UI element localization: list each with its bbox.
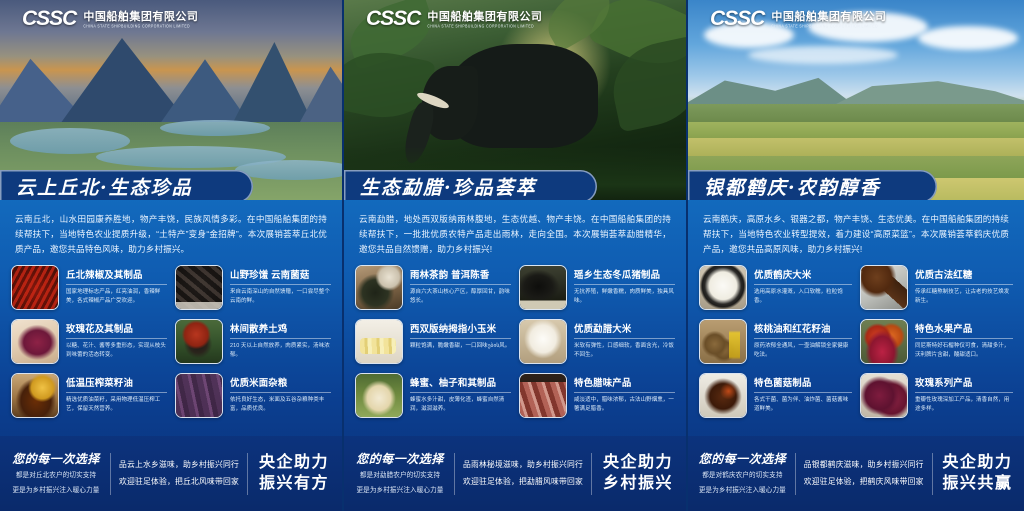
product-card[interactable]: 玫瑰花及其制品 以糖、花汁、酱等多重形态，实现从枝头到味蕾的活态转变。 bbox=[11, 319, 167, 364]
footer-sub-2: 更是为乡村振兴注入暖心力量 bbox=[698, 486, 787, 497]
footer-divider bbox=[795, 453, 796, 495]
footer-divider bbox=[247, 453, 248, 495]
product-thumbnail-purple-grain bbox=[175, 373, 223, 418]
panel-footer: 您的每一次选择 都是对丘北农户的切实支持 更是为乡村振兴注入暖心力量 品云上水乡… bbox=[0, 436, 342, 511]
footer-divider bbox=[110, 453, 111, 495]
product-desc: 传承红糖熬制技艺，让古老的技艺焕发新生。 bbox=[915, 288, 1013, 306]
product-thumbnail-fruit-platter bbox=[860, 319, 908, 364]
footer-slogan-block: 您的每一次选择 都是对丘北农户的切实支持 更是为乡村振兴注入暖心力量 bbox=[10, 450, 102, 497]
product-name: 林间散养土鸡 bbox=[230, 321, 331, 339]
footer-message-block: 品云上水乡滋味，助乡村振兴同行 欢迎驻足体验，把丘北风味带回家 bbox=[119, 457, 239, 490]
product-card[interactable]: 优质米面杂粮 依托良好生态，米面及五谷杂粮种类丰富，品质优良。 bbox=[175, 373, 331, 418]
cssc-logo-cn: 中国船舶集团有限公司 bbox=[771, 12, 886, 23]
footer-headline-2: 振兴共赢 bbox=[941, 474, 1014, 495]
product-name: 雨林茶韵 普洱陈香 bbox=[410, 267, 511, 285]
product-name: 瑶乡生态冬瓜猪制品 bbox=[574, 267, 675, 285]
product-name: 优质勐腊大米 bbox=[574, 321, 675, 339]
footer-headline-2: 乡村振兴 bbox=[600, 474, 676, 495]
hero-mengla: CSSC 中国船舶集团有限公司 CHINA STATE SHIPBUILDING… bbox=[344, 0, 686, 200]
product-name: 优质米面杂粮 bbox=[230, 375, 331, 393]
footer-divider bbox=[591, 453, 592, 495]
product-thumbnail-free-range-chicken bbox=[175, 319, 223, 364]
footer-headline-1: 央企助力 bbox=[941, 453, 1014, 474]
footer-script: 您的每一次选择 bbox=[10, 450, 102, 467]
product-thumbnail-baby-corn bbox=[355, 319, 403, 364]
panel-mengla: CSSC 中国船舶集团有限公司 CHINA STATE SHIPBUILDING… bbox=[344, 0, 686, 511]
footer-line-1: 品云上水乡滋味，助乡村振兴同行 bbox=[119, 457, 239, 473]
panel-title-bar: 云上丘北·生态珍品 bbox=[0, 170, 253, 200]
product-thumbnail-puer-tea bbox=[355, 265, 403, 310]
cssc-logo: CSSC 中国船舶集团有限公司 CHINA STATE SHIPBUILDING… bbox=[366, 8, 542, 29]
panel-footer: 您的每一次选择 都是对勐腊农户的切实支持 更是为乡村振兴注入暖心力量 品雨林秘境… bbox=[344, 436, 686, 511]
footer-line-2: 欢迎驻足体验，把鹤庆风味带回家 bbox=[804, 474, 924, 490]
elephant bbox=[448, 44, 598, 148]
footer-sub-2: 更是为乡村振兴注入暖心力量 bbox=[354, 486, 446, 497]
footer-slogan-block: 您的每一次选择 都是对勐腊农户的切实支持 更是为乡村振兴注入暖心力量 bbox=[354, 450, 446, 497]
product-card[interactable]: 特色水果产品 同尼斯特好石榴种仅可食，清甜多汁，沃利脾片含甜，酸甜适口。 bbox=[860, 319, 1013, 364]
panel-intro: 云南丘北，山水田园康养胜地，物产丰饶，民族风情多彩。在中国船舶集团的持续帮扶下，… bbox=[15, 212, 327, 256]
product-card[interactable]: 特色菌菇制品 各式干菌、菌为伴、油炸菌、菌菇酱味道鲜美。 bbox=[699, 373, 852, 418]
footer-script: 您的每一次选择 bbox=[354, 450, 446, 467]
product-name: 玫瑰系列产品 bbox=[915, 375, 1013, 393]
field-strip bbox=[688, 138, 1024, 156]
cssc-logo-cn: 中国船舶集团有限公司 bbox=[427, 12, 542, 23]
product-grid: 丘北辣椒及其制品 国家地理标志产品，红亮油润，香辣鲜美，各式辣椒产品广受欢迎。 … bbox=[11, 265, 331, 418]
product-card[interactable]: 西双版纳拇指小玉米 颗粒饱满，脆嫩香甜，一口回味ების风。 bbox=[355, 319, 511, 364]
product-desc: 210 天以上自然放养，肉质紧实，汤味浓郁。 bbox=[230, 342, 331, 360]
product-desc: 来自云南深山的自然馈赠，一口尝尽整个云南的鲜。 bbox=[230, 288, 331, 306]
product-desc: 颗粒饱满，脆嫩香甜，一口回味ების风。 bbox=[410, 342, 511, 351]
product-card[interactable]: 优质古法红糖 传承红糖熬制技艺，让古老的技艺焕发新生。 bbox=[860, 265, 1013, 310]
product-card[interactable]: 林间散养土鸡 210 天以上自然放养，肉质紧实，汤味浓郁。 bbox=[175, 319, 331, 364]
product-card[interactable]: 丘北辣椒及其制品 国家地理标志产品，红亮油润，香辣鲜美，各式辣椒产品广受欢迎。 bbox=[11, 265, 167, 310]
product-name: 核桃油和红花籽油 bbox=[754, 321, 852, 339]
footer-message-block: 品银都鹤庆滋味，助乡村振兴同行 欢迎驻足体验，把鹤庆风味带回家 bbox=[804, 457, 924, 490]
footer-sub-1: 都是对勐腊农户的切实支持 bbox=[354, 471, 446, 482]
footer-sub-2: 更是为乡村振兴注入暖心力量 bbox=[10, 486, 102, 497]
footer-message-block: 品雨林秘境滋味，助乡村振兴同行 欢迎驻足体验，把勐腊风味带回家 bbox=[463, 457, 583, 490]
panel-heqing: CSSC 中国船舶集团有限公司 CHINA STATE SHIPBUILDING… bbox=[688, 0, 1024, 511]
product-name: 蜂蜜、柚子和其制品 bbox=[410, 375, 511, 393]
product-desc: 源自六大茶山核心产区，醇厚回甘，韵味悠长。 bbox=[410, 288, 511, 306]
cloud bbox=[918, 26, 1018, 50]
product-card[interactable]: 雨林茶韵 普洱陈香 源自六大茶山核心产区，醇厚回甘，韵味悠长。 bbox=[355, 265, 511, 310]
footer-sub-1: 都是对鹤庆农户的切实支持 bbox=[698, 471, 787, 482]
footer-line-2: 欢迎驻足体验，把丘北风味带回家 bbox=[119, 474, 239, 490]
product-card[interactable]: 优质勐腊大米 米软有弹性，口感细软，香面含光，冷饭不回生。 bbox=[519, 319, 675, 364]
product-name: 山野珍馐 云南菌菇 bbox=[230, 267, 331, 285]
footer-divider bbox=[932, 453, 933, 495]
promo-board: CSSC 中国船舶集团有限公司 CHINA STATE SHIPBUILDING… bbox=[0, 0, 1024, 511]
product-name: 优质古法红糖 bbox=[915, 267, 1013, 285]
product-desc: 精选优质油菜籽，采用物理低温压榨工艺，保留天然营养。 bbox=[66, 396, 167, 414]
product-desc: 无抗养殖，鲜嫩香糯，肉质鲜美，独具风味。 bbox=[574, 288, 675, 306]
product-card[interactable]: 瑶乡生态冬瓜猪制品 无抗养殖，鲜嫩香糯，肉质鲜美，独具风味。 bbox=[519, 265, 675, 310]
hero-heqing: CSSC 中国船舶集团有限公司 CHINA STATE SHIPBUILDING… bbox=[688, 0, 1024, 200]
product-name: 特色水果产品 bbox=[915, 321, 1013, 339]
product-thumbnail-black-pig bbox=[519, 265, 567, 310]
footer-headline-1: 央企助力 bbox=[256, 453, 332, 474]
cssc-logo-mark: CSSC bbox=[366, 8, 420, 29]
product-card[interactable]: 山野珍馐 云南菌菇 来自云南深山的自然馈赠，一口尝尽整个云南的鲜。 bbox=[175, 265, 331, 310]
panel-title: 银都鹤庆·农韵醇香 bbox=[688, 173, 881, 200]
hero-qiubei: CSSC 中国船舶集团有限公司 CHINA STATE SHIPBUILDING… bbox=[0, 0, 342, 200]
product-grid: 雨林茶韵 普洱陈香 源自六大茶山核心产区，醇厚回甘，韵味悠长。 瑶乡生态冬瓜猪制… bbox=[355, 265, 675, 418]
product-thumbnail-dried-mushroom bbox=[175, 265, 223, 310]
footer-headline-block: 央企助力 振兴有方 bbox=[256, 453, 332, 495]
field-strip bbox=[688, 122, 1024, 138]
product-thumbnail-cured-meat bbox=[519, 373, 567, 418]
cssc-logo-en: CHINA STATE SHIPBUILDING CORPORATION LIM… bbox=[427, 25, 542, 29]
product-card[interactable]: 低温压榨菜籽油 精选优质油菜籽，采用物理低温压榨工艺，保留天然营养。 bbox=[11, 373, 167, 418]
cssc-logo-en: CHINA STATE SHIPBUILDING CORPORATION LIM… bbox=[83, 25, 198, 29]
product-name: 优质鹤庆大米 bbox=[754, 267, 852, 285]
footer-line-1: 品银都鹤庆滋味，助乡村振兴同行 bbox=[804, 457, 924, 473]
product-thumbnail-white-rice bbox=[519, 319, 567, 364]
cloud bbox=[748, 46, 898, 64]
product-desc: 依托良好生态，米面及五谷杂粮种类丰富，品质优良。 bbox=[230, 396, 331, 414]
footer-headline-block: 央企助力 乡村振兴 bbox=[600, 453, 676, 495]
footer-headline-1: 央企助力 bbox=[600, 453, 676, 474]
product-desc: 以糖、花汁、酱等多重形态，实现从枝头到味蕾的活态转变。 bbox=[66, 342, 167, 360]
product-desc: 咸淡适中，腊味浓郁，古法山野烟熏，一箸满足腊香。 bbox=[574, 396, 675, 414]
panel-title: 生态勐腊·珍品荟萃 bbox=[344, 173, 537, 200]
product-card[interactable]: 蜂蜜、柚子和其制品 蜂蜜水多汁甜，皮薄化渣，蜂蜜自然清润，滋润滋养。 bbox=[355, 373, 511, 418]
footer-headline-2: 振兴有方 bbox=[256, 474, 332, 495]
product-card[interactable]: 玫瑰系列产品 重瓣性玫瑰深加工产品，清香自然，用途多样。 bbox=[860, 373, 1013, 418]
product-card[interactable]: 核桃油和红花籽油 原药浓郁全通风，一壶油解锁全家健康吃法。 bbox=[699, 319, 852, 364]
product-desc: 选用高原水灌溉，入口软糯，粒粒饱香。 bbox=[754, 288, 852, 306]
panel-footer: 您的每一次选择 都是对鹤庆农户的切实支持 更是为乡村振兴注入暖心力量 品银都鹤庆… bbox=[688, 436, 1024, 511]
product-thumbnail-brown-sugar bbox=[860, 265, 908, 310]
product-desc: 同尼斯特好石榴种仅可食，清甜多汁，沃利脾片含甜，酸甜适口。 bbox=[915, 342, 1013, 360]
product-thumbnail-walnut-oil bbox=[699, 319, 747, 364]
footer-divider bbox=[454, 453, 455, 495]
cssc-logo-mark: CSSC bbox=[22, 8, 76, 29]
product-desc: 原药浓郁全通风，一壶油解锁全家健康吃法。 bbox=[754, 342, 852, 360]
product-card[interactable]: 特色腊味产品 咸淡适中，腊味浓郁，古法山野烟熏，一箸满足腊香。 bbox=[519, 373, 675, 418]
footer-headline-block: 央企助力 振兴共赢 bbox=[941, 453, 1014, 495]
product-name: 玫瑰花及其制品 bbox=[66, 321, 167, 339]
lake bbox=[160, 120, 270, 136]
product-thumbnail-mushroom-sauce bbox=[699, 373, 747, 418]
cssc-logo-en: CHINA STATE SHIPBUILDING CORPORATION LIM… bbox=[771, 25, 886, 29]
product-thumbnail-heqing-rice bbox=[699, 265, 747, 310]
product-desc: 米软有弹性，口感细软，香面含光，冷饭不回生。 bbox=[574, 342, 675, 360]
cssc-logo: CSSC 中国船舶集团有限公司 CHINA STATE SHIPBUILDING… bbox=[710, 8, 886, 29]
cssc-logo: CSSC 中国船舶集团有限公司 CHINA STATE SHIPBUILDING… bbox=[22, 8, 198, 29]
product-name: 特色菌菇制品 bbox=[754, 375, 852, 393]
product-desc: 蜂蜜水多汁甜，皮薄化渣，蜂蜜自然清润，滋润滋养。 bbox=[410, 396, 511, 414]
footer-slogan-block: 您的每一次选择 都是对鹤庆农户的切实支持 更是为乡村振兴注入暖心力量 bbox=[698, 450, 787, 497]
product-grid: 优质鹤庆大米 选用高原水灌溉，入口软糯，粒粒饱香。 优质古法红糖 传承红糖熬制技… bbox=[699, 265, 1013, 418]
product-name: 西双版纳拇指小玉米 bbox=[410, 321, 511, 339]
panel-title-bar: 生态勐腊·珍品荟萃 bbox=[344, 170, 597, 200]
product-desc: 国家地理标志产品，红亮油润，香辣鲜美，各式辣椒产品广受欢迎。 bbox=[66, 288, 167, 306]
product-desc: 各式干菌、菌为伴、油炸菌、菌菇酱味道鲜美。 bbox=[754, 396, 852, 414]
product-name: 丘北辣椒及其制品 bbox=[66, 267, 167, 285]
product-thumbnail-dried-chili bbox=[11, 265, 59, 310]
footer-script: 您的每一次选择 bbox=[698, 450, 787, 467]
product-thumbnail-pomelo-honey bbox=[355, 373, 403, 418]
panel-intro: 云南鹤庆，高原水乡、银器之都，物产丰饶、生态优美。在中国船舶集团的持续帮扶下，当… bbox=[703, 212, 1009, 256]
product-name: 特色腊味产品 bbox=[574, 375, 675, 393]
panel-title-bar: 银都鹤庆·农韵醇香 bbox=[688, 170, 937, 200]
panel-intro: 云南勐腊，地处西双版纳雨林腹地，生态优越、物产丰饶。在中国船舶集团的持续帮扶下，… bbox=[359, 212, 671, 256]
field-strip bbox=[688, 104, 1024, 122]
product-desc: 重瓣性玫瑰深加工产品，清香自然，用途多样。 bbox=[915, 396, 1013, 414]
footer-line-1: 品雨林秘境滋味，助乡村振兴同行 bbox=[463, 457, 583, 473]
product-name: 低温压榨菜籽油 bbox=[66, 375, 167, 393]
panel-title: 云上丘北·生态珍品 bbox=[0, 173, 193, 200]
product-card[interactable]: 优质鹤庆大米 选用高原水灌溉，入口软糯，粒粒饱香。 bbox=[699, 265, 852, 310]
footer-line-2: 欢迎驻足体验，把勐腊风味带回家 bbox=[463, 474, 583, 490]
product-thumbnail-dried-rose bbox=[860, 373, 908, 418]
product-thumbnail-rose-pastry bbox=[11, 319, 59, 364]
panel-qiubei: CSSC 中国船舶集团有限公司 CHINA STATE SHIPBUILDING… bbox=[0, 0, 342, 511]
product-thumbnail-rapeseed-oil bbox=[11, 373, 59, 418]
cssc-logo-mark: CSSC bbox=[710, 8, 764, 29]
cssc-logo-cn: 中国船舶集团有限公司 bbox=[83, 12, 198, 23]
footer-sub-1: 都是对丘北农户的切实支持 bbox=[10, 471, 102, 482]
